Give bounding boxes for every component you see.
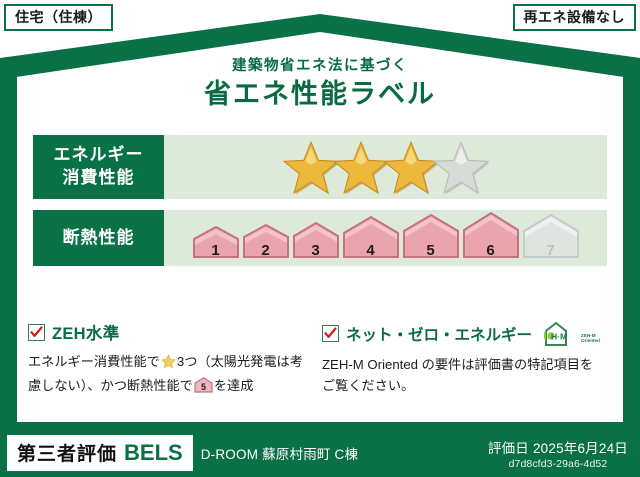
page-title: 省エネ性能ラベル [0, 78, 640, 112]
inline-star-icon [161, 354, 176, 375]
energy-label-line2: 消費性能 [63, 167, 135, 190]
zeh-standard-body: エネルギー消費性能で 3つ（太陽光発電は考慮しない）、かつ断熱性能で 5 を達成 [28, 351, 312, 400]
zeh-body-part3: を達成 [214, 378, 254, 393]
insulation-label-text: 断熱性能 [63, 227, 135, 250]
house-filled-icon [242, 223, 290, 259]
insulation-grade-2: 2 [242, 223, 290, 264]
footer-bar: 第三者評価 BELS D-ROOM 蘇原村雨町 C棟 評価日 2025年6月24… [0, 429, 640, 477]
star-filled-icon [333, 140, 389, 194]
zeh-m-oriented-logo: H·M ZEH-M Oriented [543, 320, 600, 347]
inline-house-grade-number: 5 [201, 382, 206, 392]
star-empty-icon [433, 140, 489, 194]
renewable-equipment-chip: 再エネ設備なし [513, 4, 637, 31]
house-filled-icon [192, 225, 240, 259]
net-zero-energy-checkbox[interactable] [322, 325, 339, 342]
house-filled-icon [462, 211, 520, 259]
inline-house-grade-icon: 5 [194, 377, 213, 399]
svg-text:H·M: H·M [551, 332, 567, 342]
check-icon [30, 326, 43, 339]
energy-performance-value [164, 135, 607, 199]
zeh-m-house-icon: H·M [543, 320, 583, 347]
net-zero-energy-body: ZEH-M Oriented の要件は評価書の特記項目をご覧ください。 [322, 354, 606, 397]
house-filled-icon [342, 215, 400, 259]
house-filled-icon [292, 221, 340, 259]
energy-performance-label: 住宅（住棟） 再エネ設備なし 建築物省エネ法に基づく 省エネ性能ラベル エネルギ… [0, 0, 640, 477]
insulation-grade-3: 3 [292, 221, 340, 264]
bels-badge: 第三者評価 BELS [7, 435, 193, 471]
house-empty-icon [522, 213, 580, 259]
check-icon [324, 327, 337, 340]
evaluation-id: d7d8cfd3-29a6-4d52 [488, 458, 628, 470]
evaluation-info: 評価日 2025年6月24日 d7d8cfd3-29a6-4d52 [488, 437, 628, 470]
insulation-grade-7: 7 [522, 213, 580, 264]
star-filled-icon [383, 140, 439, 194]
label-subtitle: 建築物省エネ法に基づく [0, 58, 640, 75]
zeh-standard-title: ZEH水準 [52, 320, 120, 344]
zeh-standard-header: ZEH水準 [28, 320, 312, 344]
insulation-performance-label: 断熱性能 [33, 210, 164, 266]
bels-logo-text: BELS [124, 440, 183, 466]
zeh-body-part1: エネルギー消費性能で [28, 354, 160, 369]
insulation-grade-4: 4 [342, 215, 400, 264]
zeh-standard-checkbox[interactable] [28, 324, 45, 341]
zeh-m-caption-line2: Oriented [581, 338, 600, 343]
energy-label-line1: エネルギー [54, 144, 144, 167]
building-type-chip: 住宅（住棟） [4, 4, 113, 31]
energy-performance-label: エネルギー 消費性能 [33, 135, 164, 199]
building-name: D-ROOM 蘇原村雨町 C棟 [201, 443, 359, 463]
performance-rows: エネルギー 消費性能 断熱性能 1234567 [33, 135, 607, 277]
net-zero-energy-header: ネット・ゼロ・エネルギー H·M ZEH-M Oriented [322, 320, 606, 347]
insulation-performance-value: 1234567 [164, 210, 607, 266]
insulation-performance-row: 断熱性能 1234567 [33, 210, 607, 266]
star-filled-icon [283, 140, 339, 194]
net-zero-energy-title: ネット・ゼロ・エネルギー [346, 323, 532, 345]
third-party-evaluation-label: 第三者評価 [17, 439, 117, 466]
evaluation-date: 評価日 2025年6月24日 [488, 437, 628, 457]
energy-performance-row: エネルギー 消費性能 [33, 135, 607, 199]
criteria-notes: ZEH水準 エネルギー消費性能で 3つ（太陽光発電は考慮しない）、かつ断熱性能で… [28, 320, 616, 400]
label-title-block: 建築物省エネ法に基づく 省エネ性能ラベル [0, 58, 640, 112]
insulation-grade-5: 5 [402, 213, 460, 264]
insulation-grade-scale: 1234567 [192, 211, 580, 266]
zeh-m-caption-line1: ZEH-M [581, 333, 596, 338]
insulation-grade-1: 1 [192, 225, 240, 264]
insulation-grade-6: 6 [462, 211, 520, 264]
star-rating [286, 140, 486, 194]
net-zero-energy-note: ネット・ゼロ・エネルギー H·M ZEH-M Oriented ZEH-M Or… [322, 320, 616, 400]
zeh-standard-note: ZEH水準 エネルギー消費性能で 3つ（太陽光発電は考慮しない）、かつ断熱性能で… [28, 320, 322, 400]
house-filled-icon [402, 213, 460, 259]
